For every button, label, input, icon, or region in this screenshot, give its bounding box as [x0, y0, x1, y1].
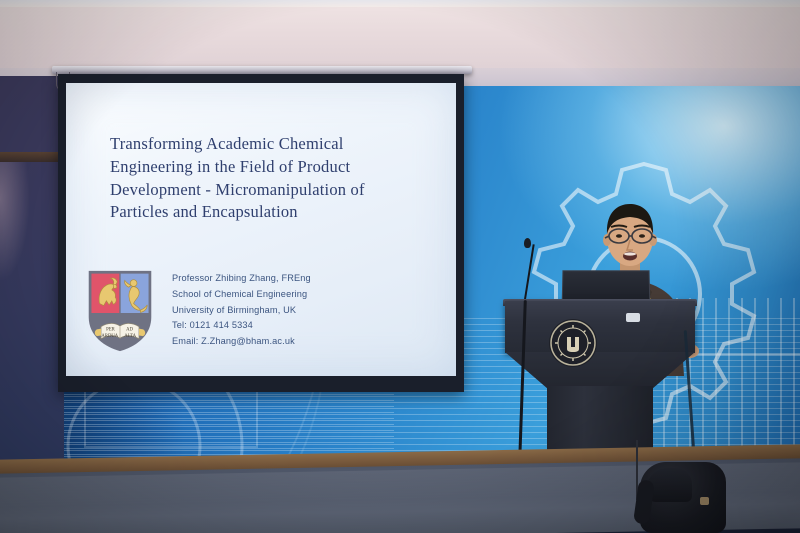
projection-screen: Transforming Academic Chemical Engineeri…: [58, 74, 464, 392]
presenter-email: Email: Z.Zhang@bham.ac.uk: [172, 334, 311, 350]
eye-left: [616, 234, 622, 238]
slide-footer-row: PER AD ARDUA ALTA Professor Zhibing Zhan…: [66, 268, 456, 354]
slide-title-line: Development - Micromanipulation of: [110, 179, 400, 202]
presenter-name: Professor Zhibing Zhang, FREng: [172, 271, 311, 287]
podium-top: [505, 301, 695, 353]
presenter-telephone: Tel: 0121 414 5334: [172, 318, 311, 334]
screen-surface: Transforming Academic Chemical Engineeri…: [66, 83, 456, 376]
left-wall-light-glow: [0, 162, 30, 282]
crest-motto-ad: AD: [126, 328, 133, 333]
left-navy-wall: [0, 76, 64, 466]
presenter-school: School of Chemical Engineering: [172, 287, 311, 303]
projector-screen-housing: [52, 66, 472, 74]
lecture-photograph: Transforming Academic Chemical Engineeri…: [0, 0, 800, 533]
slide-title-line: Transforming Academic Chemical: [110, 133, 400, 156]
presenter-university: University of Birmingham, UK: [172, 303, 311, 319]
teeth: [624, 252, 636, 255]
podium-gear-emblem-icon: [548, 318, 598, 368]
crest-motto-per: PER: [106, 328, 116, 333]
presentation-slide: Transforming Academic Chemical Engineeri…: [66, 83, 456, 376]
backpack-buckle: [700, 497, 709, 505]
eye-right: [639, 234, 645, 238]
crest-motto-ardua: ARDUA: [101, 334, 118, 339]
slide-title: Transforming Academic Chemical Engineeri…: [110, 133, 400, 224]
slide-title-line: Engineering in the Field of Product: [110, 156, 400, 179]
university-crest-icon: PER AD ARDUA ALTA: [86, 268, 154, 354]
left-wall-trim: [0, 152, 64, 162]
ceiling-surface: [0, 0, 800, 76]
presenter-details: Professor Zhibing Zhang, FREng School of…: [172, 271, 311, 354]
microphone-icon: [524, 238, 531, 248]
crest-motto-alta: ALTA: [124, 334, 136, 339]
presentation-clicker: [626, 313, 640, 322]
ceiling-top-edge: [0, 0, 800, 7]
slide-title-line: Particles and Encapsulation: [110, 201, 400, 224]
